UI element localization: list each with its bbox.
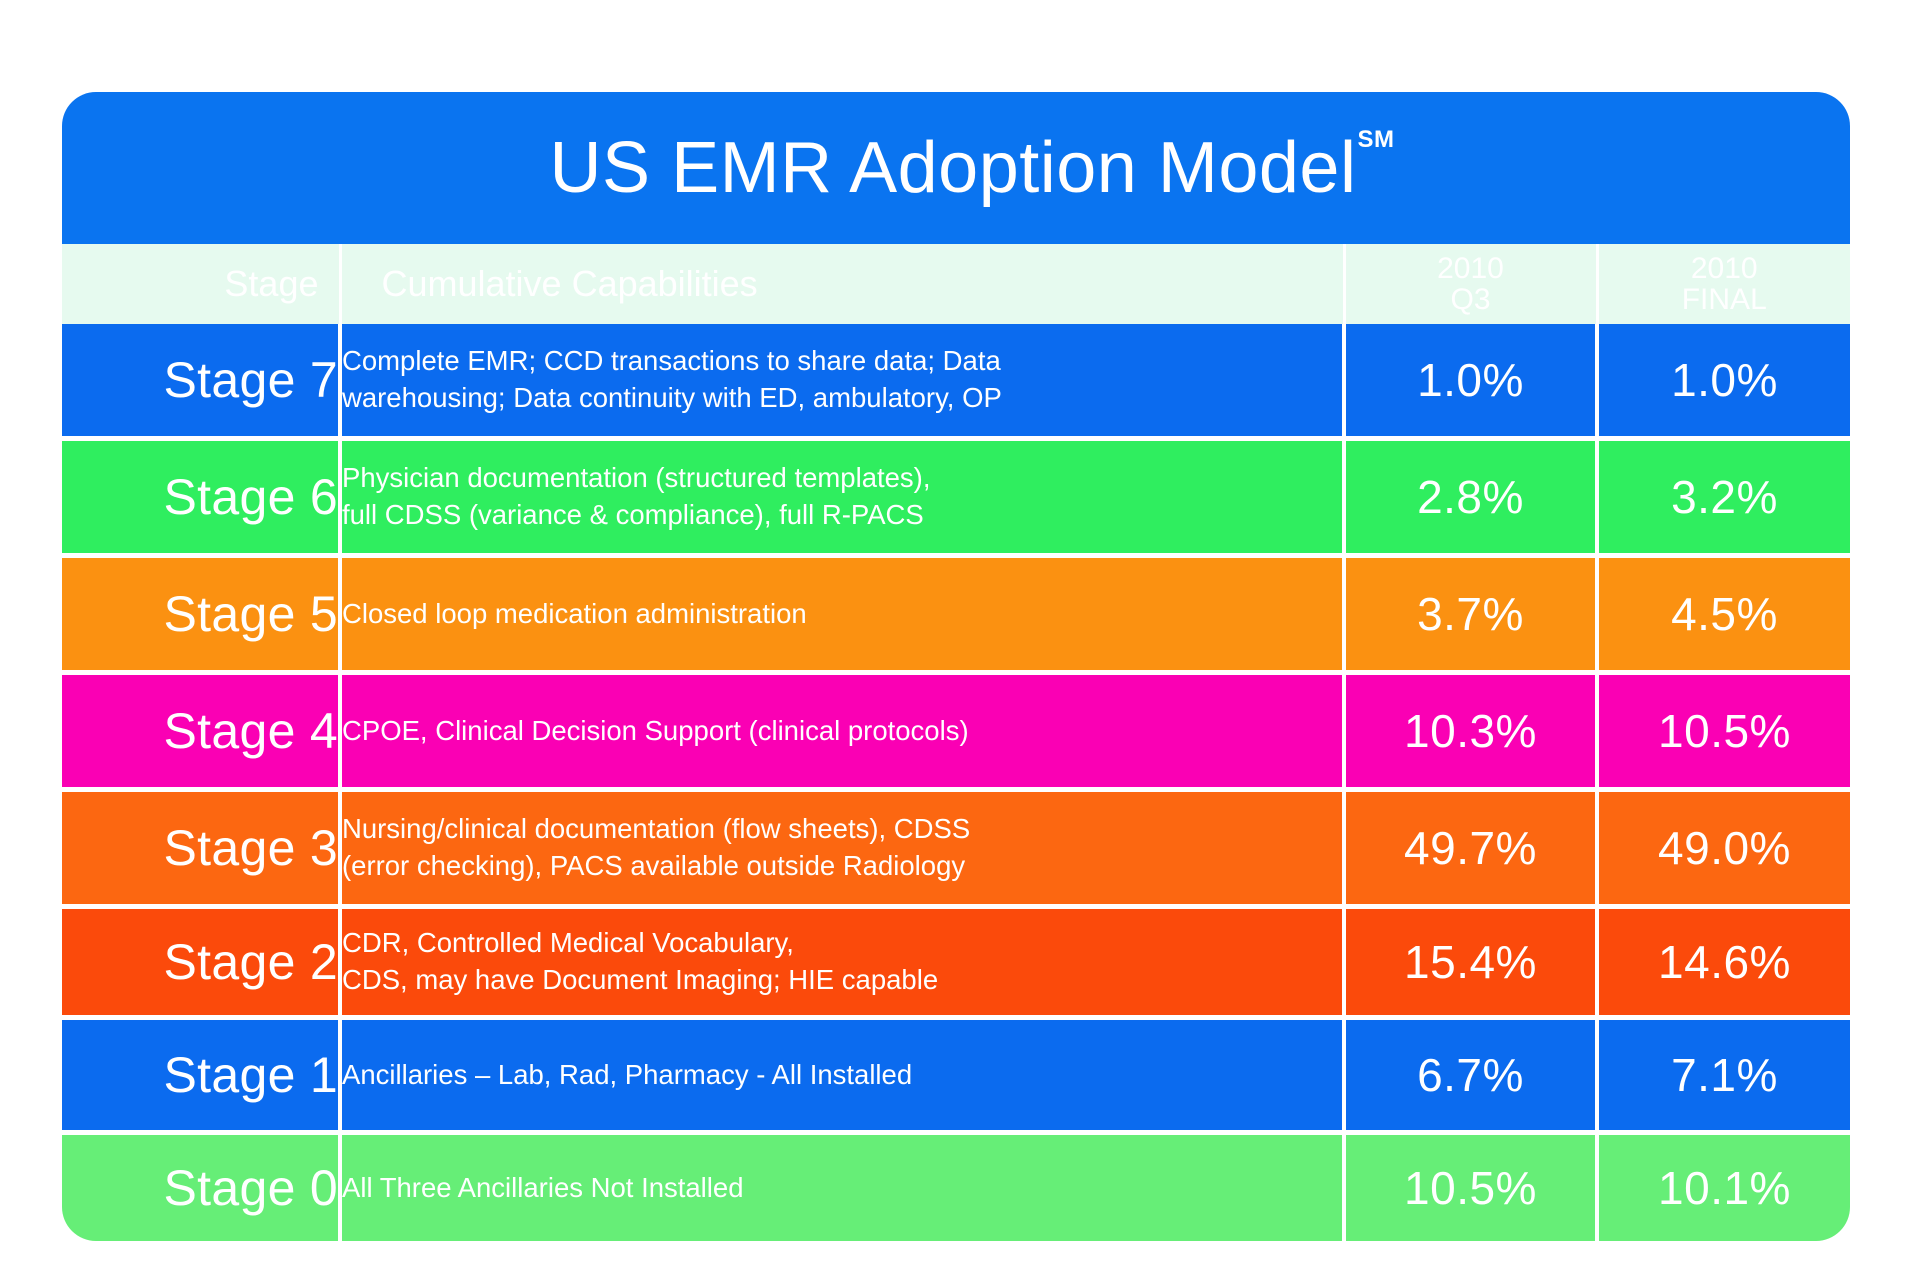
value-cell-2010-final: 10.5% — [1597, 673, 1850, 790]
capability-line: All Three Ancillaries Not Installed — [342, 1170, 1342, 1207]
column-header-2010-final-period: FINAL — [1599, 284, 1851, 315]
stage-label-cell: Stage 4 — [62, 673, 340, 790]
value-cell-2010-q3: 10.3% — [1344, 673, 1597, 790]
value-cell-2010-q3: 3.7% — [1344, 556, 1597, 673]
page-title-text: US EMR Adoption Model — [550, 128, 1357, 208]
capabilities-cell: CDR, Controlled Medical Vocabulary,CDS, … — [340, 907, 1344, 1018]
capability-line: Complete EMR; CCD transactions to share … — [342, 343, 1342, 380]
capabilities-cell: Complete EMR; CCD transactions to share … — [340, 324, 1344, 439]
card-title-band: US EMR Adoption ModelSM — [62, 92, 1850, 244]
stage-label-cell: Stage 3 — [62, 790, 340, 907]
table-row: Stage 5Closed loop medication administra… — [62, 556, 1850, 673]
value-cell-2010-q3: 15.4% — [1344, 907, 1597, 1018]
stage-label-cell: Stage 6 — [62, 439, 340, 556]
value-cell-2010-final: 10.1% — [1597, 1133, 1850, 1242]
service-mark-superscript: SM — [1357, 128, 1394, 152]
column-header-2010-final: 2010 FINAL — [1597, 244, 1850, 324]
capabilities-cell: Closed loop medication administration — [340, 556, 1344, 673]
table-row: Stage 1Ancillaries – Lab, Rad, Pharmacy … — [62, 1018, 1850, 1133]
value-cell-2010-final: 1.0% — [1597, 324, 1850, 439]
value-cell-2010-final: 49.0% — [1597, 790, 1850, 907]
value-cell-2010-final: 7.1% — [1597, 1018, 1850, 1133]
value-cell-2010-final: 14.6% — [1597, 907, 1850, 1018]
capability-line: Physician documentation (structured temp… — [342, 460, 1342, 497]
stage-label-cell: Stage 7 — [62, 324, 340, 439]
column-header-2010-final-year: 2010 — [1599, 253, 1851, 284]
emr-stages-table: Stage Cumulative Capabilities 2010 Q3 20… — [62, 244, 1850, 1241]
table-row: Stage 4CPOE, Clinical Decision Support (… — [62, 673, 1850, 790]
capabilities-cell: Nursing/clinical documentation (flow she… — [340, 790, 1344, 907]
emr-adoption-model-card: US EMR Adoption ModelSM Stage Cumulative… — [62, 92, 1850, 1241]
capability-line: Closed loop medication administration — [342, 596, 1342, 633]
value-cell-2010-q3: 10.5% — [1344, 1133, 1597, 1242]
column-header-stage: Stage — [62, 244, 340, 324]
table-row: Stage 3Nursing/clinical documentation (f… — [62, 790, 1850, 907]
capabilities-cell: All Three Ancillaries Not Installed — [340, 1133, 1344, 1242]
page-title: US EMR Adoption ModelSM — [550, 132, 1363, 204]
value-cell-2010-q3: 2.8% — [1344, 439, 1597, 556]
stage-label-cell: Stage 1 — [62, 1018, 340, 1133]
capabilities-cell: Ancillaries – Lab, Rad, Pharmacy - All I… — [340, 1018, 1344, 1133]
canvas: US EMR Adoption ModelSM Stage Cumulative… — [0, 0, 1920, 1277]
column-header-2010-q3-period: Q3 — [1346, 284, 1596, 315]
table-body: Stage Cumulative Capabilities 2010 Q3 20… — [62, 244, 1850, 1241]
capability-line: CPOE, Clinical Decision Support (clinica… — [342, 713, 1342, 750]
table-row: Stage 7Complete EMR; CCD transactions to… — [62, 324, 1850, 439]
capability-line: warehousing; Data continuity with ED, am… — [342, 380, 1342, 417]
stage-label-cell: Stage 2 — [62, 907, 340, 1018]
stage-label-cell: Stage 0 — [62, 1133, 340, 1242]
capability-line: Nursing/clinical documentation (flow she… — [342, 811, 1342, 848]
capability-line: (error checking), PACS available outside… — [342, 848, 1342, 885]
value-cell-2010-q3: 6.7% — [1344, 1018, 1597, 1133]
table-header-row: Stage Cumulative Capabilities 2010 Q3 20… — [62, 244, 1850, 324]
capabilities-cell: Physician documentation (structured temp… — [340, 439, 1344, 556]
value-cell-2010-final: 4.5% — [1597, 556, 1850, 673]
table-row: Stage 0All Three Ancillaries Not Install… — [62, 1133, 1850, 1242]
column-header-2010-q3: 2010 Q3 — [1344, 244, 1597, 324]
value-cell-2010-q3: 49.7% — [1344, 790, 1597, 907]
capability-line: CDS, may have Document Imaging; HIE capa… — [342, 962, 1342, 999]
column-header-capabilities: Cumulative Capabilities — [340, 244, 1344, 324]
capability-line: CDR, Controlled Medical Vocabulary, — [342, 925, 1342, 962]
table-row: Stage 2CDR, Controlled Medical Vocabular… — [62, 907, 1850, 1018]
value-cell-2010-final: 3.2% — [1597, 439, 1850, 556]
value-cell-2010-q3: 1.0% — [1344, 324, 1597, 439]
stage-label-cell: Stage 5 — [62, 556, 340, 673]
capabilities-cell: CPOE, Clinical Decision Support (clinica… — [340, 673, 1344, 790]
capability-line: full CDSS (variance & compliance), full … — [342, 497, 1342, 534]
table-row: Stage 6Physician documentation (structur… — [62, 439, 1850, 556]
capability-line: Ancillaries – Lab, Rad, Pharmacy - All I… — [342, 1057, 1342, 1094]
column-header-2010-q3-year: 2010 — [1346, 253, 1596, 284]
